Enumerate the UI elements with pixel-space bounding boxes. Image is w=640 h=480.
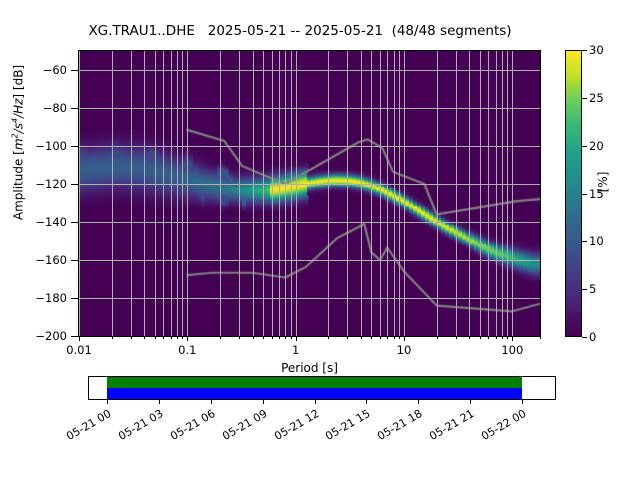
- timeline-tick-label: 05-21 06: [157, 407, 217, 449]
- grid-line-vertical: [263, 51, 264, 336]
- grid-line-horizontal: [79, 184, 540, 185]
- grid-line-vertical: [540, 51, 541, 336]
- grid-line-horizontal: [79, 336, 540, 337]
- x-axis-tick-minor: [291, 337, 292, 339]
- timeline-tick: [522, 400, 523, 404]
- grid-line-vertical: [187, 51, 188, 336]
- timeline-tick: [366, 400, 367, 404]
- y-axis-tick-label: −160: [7, 253, 67, 267]
- y-axis-tick: [71, 146, 78, 147]
- x-axis-tick-minor: [394, 337, 395, 339]
- x-axis-tick-minor: [144, 337, 145, 339]
- grid-line-vertical: [296, 51, 297, 336]
- grid-line-vertical: [507, 51, 508, 336]
- grid-line-vertical: [380, 51, 381, 336]
- timeline-tick: [211, 400, 212, 404]
- grid-line-vertical: [399, 51, 400, 336]
- y-axis-tick-label: −200: [7, 329, 67, 343]
- grid-line-vertical: [502, 51, 503, 336]
- grid-line-vertical: [394, 51, 395, 336]
- grid-line-vertical: [404, 51, 405, 336]
- x-axis-tick-minor: [131, 337, 132, 339]
- figure-canvas: XG.TRAU1..DHE 2025-05-21 -- 2025-05-21 (…: [0, 0, 640, 480]
- x-axis-tick-major: [187, 337, 188, 341]
- x-axis-tick-minor: [387, 337, 388, 339]
- grid-line-vertical: [272, 51, 273, 336]
- grid-line-vertical: [285, 51, 286, 336]
- colorbar-tick: [582, 146, 587, 147]
- colorbar-tick: [582, 337, 587, 338]
- y-axis-tick-label: −60: [7, 63, 67, 77]
- timeline-tick-label: 05-22 00: [468, 407, 528, 449]
- timeline-tick-label: 05-21 03: [105, 407, 165, 449]
- timeline-tick: [470, 400, 471, 404]
- grid-line-vertical: [512, 51, 513, 336]
- y-axis-tick: [71, 260, 78, 261]
- grid-line-horizontal: [79, 146, 540, 147]
- grid-line-vertical: [155, 51, 156, 336]
- x-axis-title: Period [s]: [78, 361, 541, 375]
- colorbar-tick: [582, 98, 587, 99]
- colorbar-tick: [582, 50, 587, 51]
- colorbar-tick-label: 30: [589, 43, 604, 57]
- y-axis-tick: [71, 222, 78, 223]
- x-axis-tick-label: 0.1: [157, 343, 217, 357]
- grid-line-vertical: [347, 51, 348, 336]
- colorbar-tick-label: 15: [589, 187, 604, 201]
- x-axis-tick-minor: [480, 337, 481, 339]
- grid-line-horizontal: [79, 222, 540, 223]
- y-axis-tick: [71, 108, 78, 109]
- timeline-tick-label: 05-21 09: [209, 407, 269, 449]
- grid-line-vertical: [480, 51, 481, 336]
- x-axis-tick-minor: [437, 337, 438, 339]
- colorbar-tick: [582, 241, 587, 242]
- y-axis-tick: [71, 184, 78, 185]
- x-axis-tick-minor: [456, 337, 457, 339]
- grid-line-vertical: [291, 51, 292, 336]
- timeline-tick-label: 05-21 00: [53, 407, 113, 449]
- timeline-tick-label: 05-21 15: [312, 407, 372, 449]
- x-axis-tick-minor: [272, 337, 273, 339]
- x-axis-tick-minor: [540, 337, 541, 339]
- timeline-tick-label: 05-21 18: [364, 407, 424, 449]
- grid-line-vertical: [488, 51, 489, 336]
- y-axis-tick-label: −140: [7, 215, 67, 229]
- grid-line-vertical: [239, 51, 240, 336]
- colorbar-tick-label: 5: [589, 282, 596, 296]
- psd-histogram: [79, 51, 540, 336]
- x-axis-tick-minor: [163, 337, 164, 339]
- timeline-data-bar: [107, 377, 522, 388]
- x-axis-tick-label: 10: [374, 343, 434, 357]
- colorbar-tick-label: 25: [589, 91, 604, 105]
- grid-line-horizontal: [79, 260, 540, 261]
- x-axis-tick-minor: [285, 337, 286, 339]
- timeline-tick-label: 05-21 21: [416, 407, 476, 449]
- x-axis-tick-major: [296, 337, 297, 341]
- x-axis-tick-minor: [488, 337, 489, 339]
- y-axis-tick: [71, 336, 78, 337]
- x-axis-tick-minor: [171, 337, 172, 339]
- x-axis-tick-minor: [177, 337, 178, 339]
- y-axis-tick: [71, 70, 78, 71]
- y-axis-tick-label: −80: [7, 101, 67, 115]
- colorbar-tick: [582, 289, 587, 290]
- x-axis-tick-minor: [399, 337, 400, 339]
- grid-line-vertical: [456, 51, 457, 336]
- x-axis-tick-minor: [112, 337, 113, 339]
- grid-line-vertical: [253, 51, 254, 336]
- grid-line-vertical: [131, 51, 132, 336]
- psd-plot-area[interactable]: [78, 50, 541, 337]
- grid-line-vertical: [371, 51, 372, 336]
- x-axis-tick-minor: [182, 337, 183, 339]
- y-axis-tick-label: −100: [7, 139, 67, 153]
- colorbar-tick: [582, 194, 587, 195]
- x-axis-tick-minor: [155, 337, 156, 339]
- x-axis-tick-minor: [347, 337, 348, 339]
- grid-line-vertical: [163, 51, 164, 336]
- x-axis-tick-minor: [279, 337, 280, 339]
- grid-line-horizontal: [79, 298, 540, 299]
- x-axis-tick-major: [79, 337, 80, 341]
- x-axis-tick-minor: [328, 337, 329, 339]
- grid-line-horizontal: [79, 108, 540, 109]
- x-axis-tick-minor: [253, 337, 254, 339]
- y-axis-tick-label: −120: [7, 177, 67, 191]
- timeline-tick-label: 05-21 12: [261, 407, 321, 449]
- x-axis-tick-minor: [263, 337, 264, 339]
- grid-line-vertical: [469, 51, 470, 336]
- x-axis-tick-minor: [220, 337, 221, 339]
- grid-line-vertical: [144, 51, 145, 336]
- y-axis-tick-label: −180: [7, 291, 67, 305]
- grid-line-vertical: [361, 51, 362, 336]
- x-axis-tick-minor: [507, 337, 508, 339]
- timeline-tick: [418, 400, 419, 404]
- grid-line-horizontal: [79, 70, 540, 71]
- x-axis-tick-minor: [469, 337, 470, 339]
- x-axis-tick-minor: [239, 337, 240, 339]
- grid-line-vertical: [387, 51, 388, 336]
- grid-line-vertical: [112, 51, 113, 336]
- grid-line-vertical: [79, 51, 80, 336]
- colorbar-tick-label: 0: [589, 330, 596, 344]
- x-axis-tick-label: 1: [266, 343, 326, 357]
- x-axis-tick-minor: [361, 337, 362, 339]
- colorbar-tick-label: 10: [589, 234, 604, 248]
- grid-line-vertical: [182, 51, 183, 336]
- timeline-tick: [159, 400, 160, 404]
- timeline-axes[interactable]: [88, 376, 556, 400]
- x-axis-tick-minor: [380, 337, 381, 339]
- x-axis-tick-label: 0.01: [49, 343, 109, 357]
- x-axis-tick-major: [404, 337, 405, 341]
- page-title: XG.TRAU1..DHE 2025-05-21 -- 2025-05-21 (…: [0, 23, 600, 39]
- grid-line-vertical: [328, 51, 329, 336]
- x-axis-tick-label: 100: [482, 343, 542, 357]
- grid-line-vertical: [437, 51, 438, 336]
- x-axis-tick-major: [512, 337, 513, 341]
- colorbar: [565, 50, 582, 337]
- colorbar-tick-label: 20: [589, 139, 604, 153]
- timeline-tick: [107, 400, 108, 404]
- grid-line-vertical: [177, 51, 178, 336]
- grid-line-vertical: [496, 51, 497, 336]
- grid-line-vertical: [171, 51, 172, 336]
- timeline-psd-bar: [107, 388, 522, 400]
- x-axis-tick-minor: [371, 337, 372, 339]
- x-axis-tick-minor: [496, 337, 497, 339]
- y-axis-tick: [71, 298, 78, 299]
- timeline-tick: [315, 400, 316, 404]
- grid-line-vertical: [220, 51, 221, 336]
- x-axis-tick-minor: [502, 337, 503, 339]
- grid-line-vertical: [279, 51, 280, 336]
- timeline-tick: [263, 400, 264, 404]
